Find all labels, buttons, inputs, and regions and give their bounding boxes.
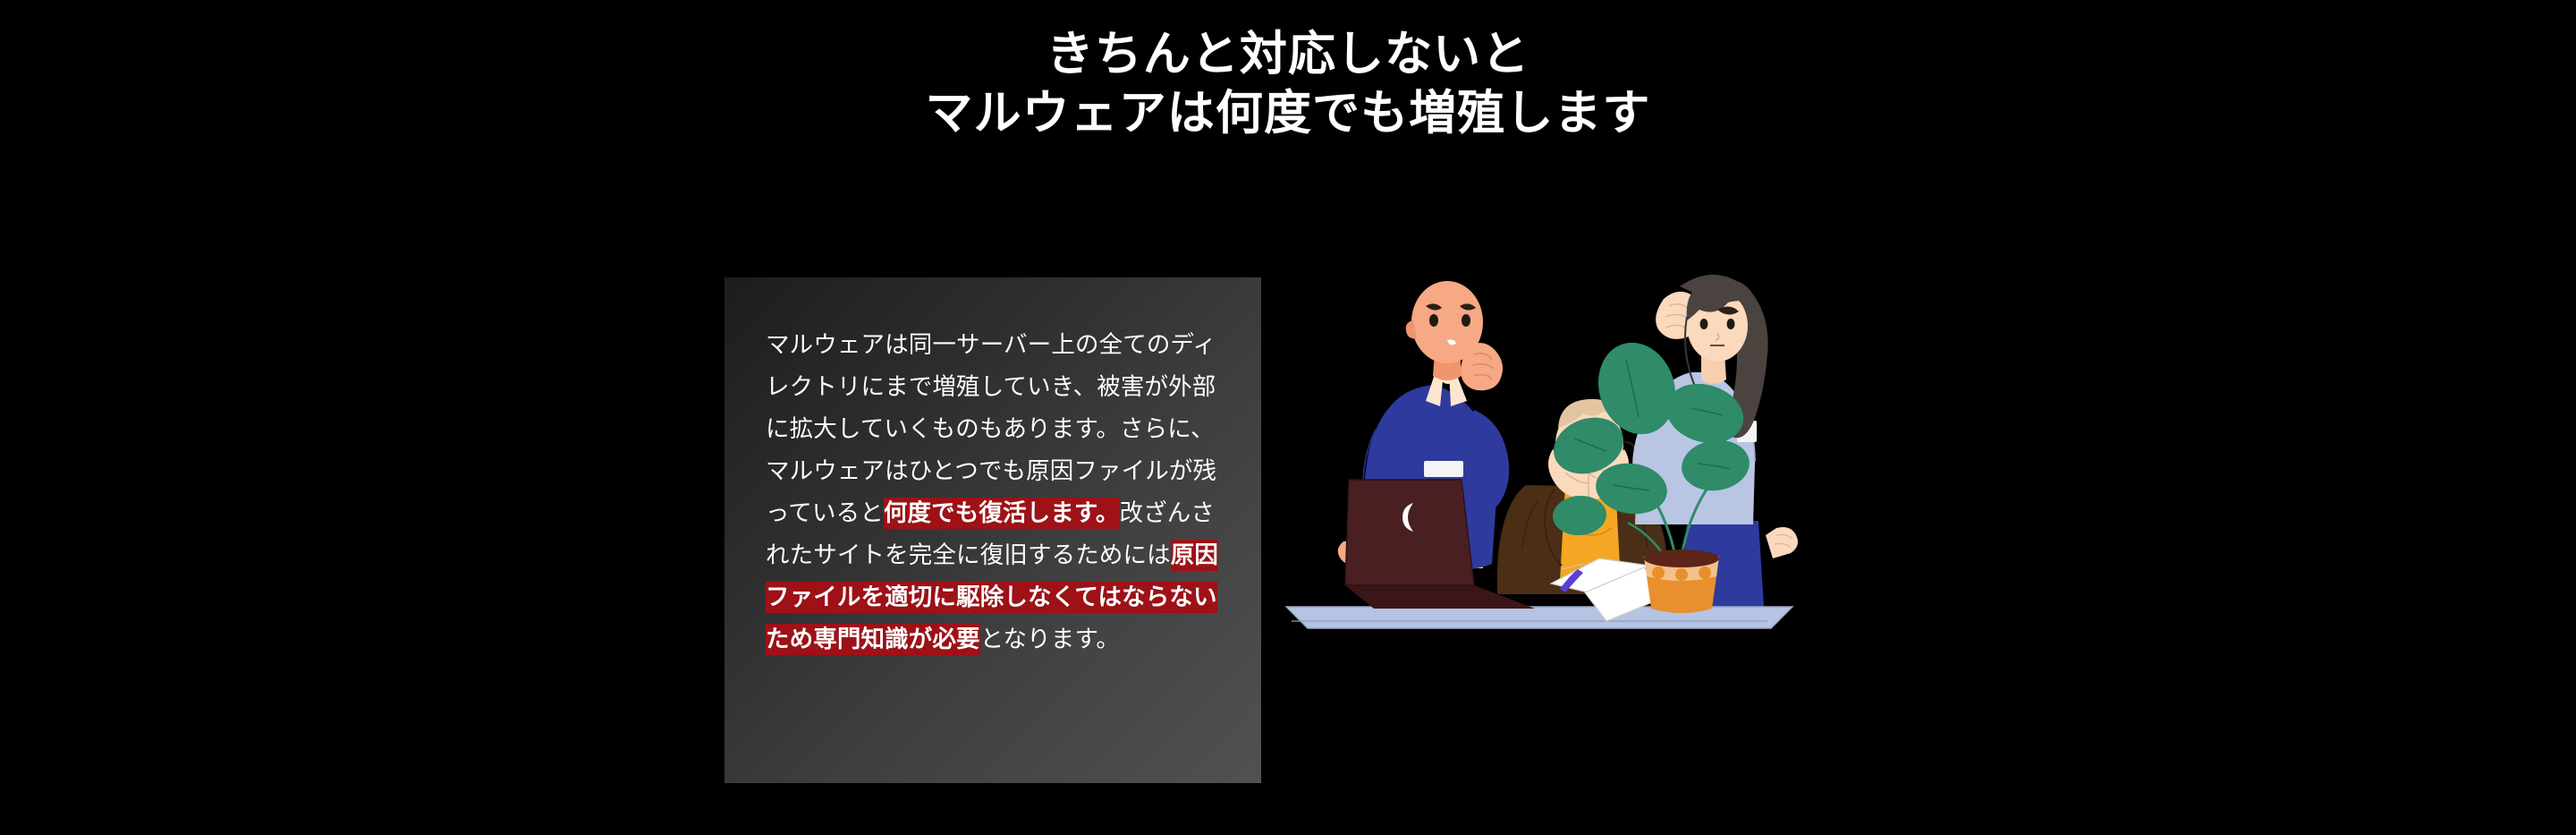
info-text-highlight-1: 何度でも復活します。 <box>884 498 1120 529</box>
page-title-line-2: マルウェアは何度でも増殖します <box>0 84 2576 143</box>
page-root: きちんと対応しないと マルウェアは何度でも増殖します マルウェアは同一サーバー上… <box>0 0 2576 835</box>
info-panel-body: マルウェアは同一サーバー上の全てのディレクトリにまで増殖していき、被害が外部に拡… <box>766 324 1224 660</box>
info-text-segment-3: となります。 <box>980 626 1120 652</box>
worried-team-illustration <box>1270 260 1825 662</box>
illustration-svg <box>1270 260 1825 662</box>
badge-left-man <box>1424 461 1463 477</box>
info-panel: マルウェアは同一サーバー上の全てのディレクトリにまで増殖していき、被害が外部に拡… <box>724 277 1261 783</box>
desk <box>1286 607 1792 628</box>
page-title: きちんと対応しないと マルウェアは何度でも増殖します <box>0 25 2576 142</box>
page-title-line-1: きちんと対応しないと <box>0 25 2576 84</box>
